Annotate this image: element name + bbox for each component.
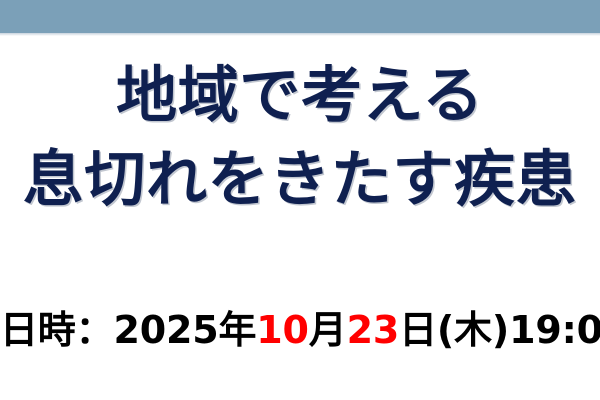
- flyer-content: 地域で考える 息切れをきたす疾患 日時：2025年10月23日(木)19:00〜…: [0, 36, 600, 400]
- datetime-label: 日時：: [0, 308, 113, 352]
- datetime-weekday: (木): [437, 308, 509, 352]
- title-line-primary: 地域で考える: [0, 54, 600, 138]
- datetime-time-range: 19:00〜20:00: [509, 308, 600, 352]
- datetime-day-number: 23: [347, 308, 400, 352]
- datetime-month-number: 10: [256, 308, 309, 352]
- datetime-row: 日時：2025年10月23日(木)19:00〜20:00: [0, 308, 600, 352]
- datetime-day-unit: 日: [399, 308, 437, 352]
- datetime-year: 2025年: [113, 308, 256, 352]
- header-band: [0, 0, 600, 33]
- datetime-month-unit: 月: [309, 308, 347, 352]
- title-line-secondary: 息切れをきたす疾患: [0, 138, 600, 222]
- page-title: 地域で考える 息切れをきたす疾患: [0, 54, 600, 222]
